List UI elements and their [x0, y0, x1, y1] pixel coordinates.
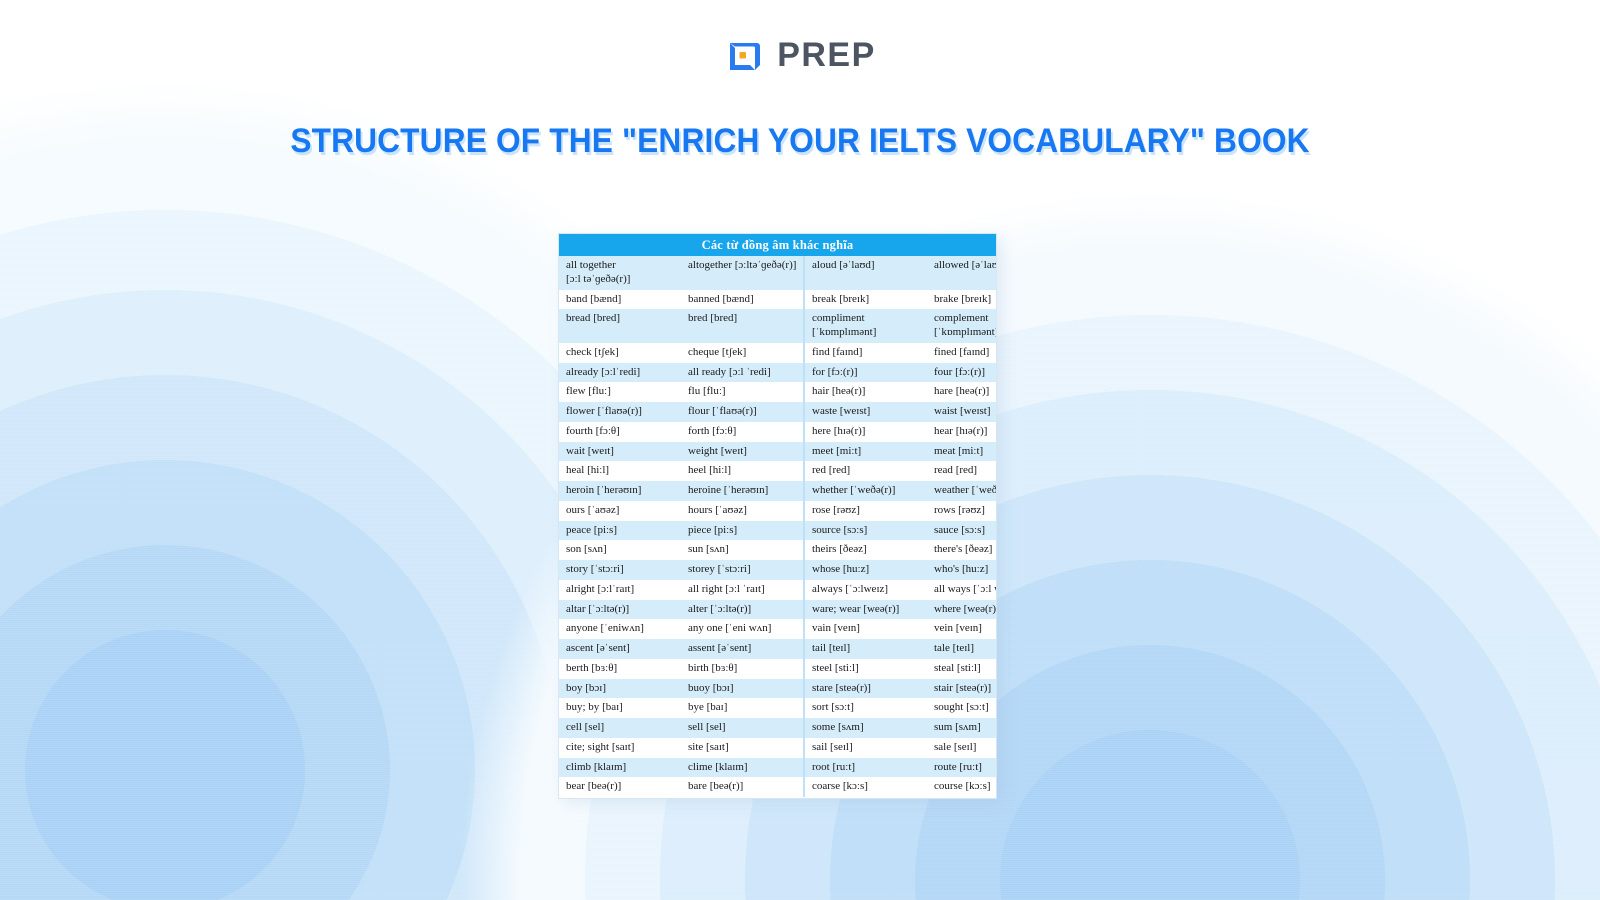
- table-cell: all together [ɔːl təˈɡeðə(r)]: [559, 256, 681, 290]
- prep-logo-icon: [724, 34, 766, 76]
- table-row: son [sʌn]sun [sʌn]theirs [ðeəz]there's […: [559, 540, 996, 560]
- table-cell: sum [sʌm]: [927, 718, 996, 738]
- table-cell: altogether [ɔːltəˈɡeðə(r)]: [681, 256, 804, 290]
- table-row: already [ɔːlˈredi]all ready [ɔːl ˈredi]f…: [559, 363, 996, 383]
- table-cell: meat [miːt]: [927, 442, 996, 462]
- table-cell: wait [weɪt]: [559, 442, 681, 462]
- table-cell: alter [ˈɔːltə(r)]: [681, 600, 804, 620]
- table-cell: route [ruːt]: [927, 758, 996, 778]
- table-cell: course [kɔːs]: [927, 777, 996, 797]
- table-cell: bred [bred]: [681, 309, 804, 343]
- table-cell: stare [steə(r)]: [804, 679, 927, 699]
- table-cell: buoy [bɔɪ]: [681, 679, 804, 699]
- table-cell: allowed [əˈlaʊd]: [927, 256, 996, 290]
- table-cell: alright [ɔːlˈraɪt]: [559, 580, 681, 600]
- table-cell: hear [hɪə(r)]: [927, 422, 996, 442]
- table-cell: sought [sɔːt]: [927, 698, 996, 718]
- table-cell: theirs [ðeəz]: [804, 540, 927, 560]
- table-cell: heroin [ˈherəʊɪn]: [559, 481, 681, 501]
- table-cell: root [ruːt]: [804, 758, 927, 778]
- table-cell: steel [stiːl]: [804, 659, 927, 679]
- table-cell: all ready [ɔːl ˈredi]: [681, 363, 804, 383]
- table-row: anyone [ˈeniwʌn]any one [ˈeni wʌn]vain […: [559, 619, 996, 639]
- table-cell: compliment [ˈkɒmplɪmənt]: [804, 309, 927, 343]
- table-row: check [tʃek]cheque [tʃek]find [faɪnd]fin…: [559, 343, 996, 363]
- table-cell: forth [fɔːθ]: [681, 422, 804, 442]
- table-cell: bare [beə(r)]: [681, 777, 804, 797]
- table-cell: altar [ˈɔːltə(r)]: [559, 600, 681, 620]
- table-cell: whether [ˈweðə(r)]: [804, 481, 927, 501]
- table-cell: flower [ˈflaʊə(r)]: [559, 402, 681, 422]
- table-row: ours [ˈaʊəz]hours [ˈaʊəz]rose [rəʊz]rows…: [559, 501, 996, 521]
- table-row: climb [klaɪm]clime [klaɪm]root [ruːt]rou…: [559, 758, 996, 778]
- table-cell: sort [sɔːt]: [804, 698, 927, 718]
- table-cell: who's [huːz]: [927, 560, 996, 580]
- table-row: fourth [fɔːθ]forth [fɔːθ]here [hɪə(r)]he…: [559, 422, 996, 442]
- table-cell: sauce [sɔːs]: [927, 521, 996, 541]
- table-cell: here [hɪə(r)]: [804, 422, 927, 442]
- table-cell: coarse [kɔːs]: [804, 777, 927, 797]
- table-row: alright [ɔːlˈraɪt]all right [ɔːl ˈraɪt]a…: [559, 580, 996, 600]
- page-title: STRUCTURE OF THE "ENRICH YOUR IELTS VOCA…: [56, 122, 1544, 161]
- table-row: heal [hiːl]heel [hiːl]red [red]read [red…: [559, 461, 996, 481]
- table-cell: break [breɪk]: [804, 290, 927, 310]
- table-cell: fourth [fɔːθ]: [559, 422, 681, 442]
- table-cell: sale [seɪl]: [927, 738, 996, 758]
- table-row: bear [beə(r)]bare [beə(r)]coarse [kɔːs]c…: [559, 777, 996, 797]
- table-cell: already [ɔːlˈredi]: [559, 363, 681, 383]
- table-row: bread [bred]bred [bred]compliment [ˈkɒmp…: [559, 309, 996, 343]
- table-cell: tale [teɪl]: [927, 639, 996, 659]
- table-cell: read [red]: [927, 461, 996, 481]
- table-cell: aloud [əˈlaʊd]: [804, 256, 927, 290]
- table-cell: rose [rəʊz]: [804, 501, 927, 521]
- table-cell: waste [weɪst]: [804, 402, 927, 422]
- table-cell: hare [heə(r)]: [927, 382, 996, 402]
- table-cell: check [tʃek]: [559, 343, 681, 363]
- table-cell: storey [ˈstɔːri]: [681, 560, 804, 580]
- table-cell: anyone [ˈeniwʌn]: [559, 619, 681, 639]
- table-cell: flew [fluː]: [559, 382, 681, 402]
- table-cell: sail [seɪl]: [804, 738, 927, 758]
- table-row: peace [piːs]piece [piːs]source [sɔːs]sau…: [559, 521, 996, 541]
- table-cell: brake [breɪk]: [927, 290, 996, 310]
- table-cell: assent [əˈsent]: [681, 639, 804, 659]
- table-cell: red [red]: [804, 461, 927, 481]
- table-cell: cell [sel]: [559, 718, 681, 738]
- table-cell: whose [huːz]: [804, 560, 927, 580]
- table-cell: for [fɔː(r)]: [804, 363, 927, 383]
- table-row: wait [weɪt]weight [weɪt]meet [miːt]meat …: [559, 442, 996, 462]
- table-cell: find [faɪnd]: [804, 343, 927, 363]
- table-row: story [ˈstɔːri]storey [ˈstɔːri]whose [hu…: [559, 560, 996, 580]
- table-cell: always [ˈɔːlweɪz]: [804, 580, 927, 600]
- table-cell: piece [piːs]: [681, 521, 804, 541]
- table-cell: banned [bænd]: [681, 290, 804, 310]
- table-cell: stair [steə(r)]: [927, 679, 996, 699]
- table-cell: berth [bɜːθ]: [559, 659, 681, 679]
- table-cell: flour [ˈflaʊə(r)]: [681, 402, 804, 422]
- table-row: ascent [əˈsent]assent [əˈsent]tail [teɪl…: [559, 639, 996, 659]
- table-cell: weather [ˈweðə(r)]: [927, 481, 996, 501]
- table-cell: there's [ðeəz]: [927, 540, 996, 560]
- vocabulary-table-figure: Các từ đồng âm khác nghĩa all together […: [559, 234, 996, 798]
- table-cell: fined [faɪnd]: [927, 343, 996, 363]
- table-cell: steal [stiːl]: [927, 659, 996, 679]
- table-row: flew [fluː]flu [fluː]hair [heə(r)]hare […: [559, 382, 996, 402]
- table-cell: buy; by [baɪ]: [559, 698, 681, 718]
- table-cell: meet [miːt]: [804, 442, 927, 462]
- table-cell: all ways [ˈɔːl weɪz]: [927, 580, 996, 600]
- table-cell: climb [klaɪm]: [559, 758, 681, 778]
- table-cell: site [saɪt]: [681, 738, 804, 758]
- table-row: berth [bɜːθ]birth [bɜːθ]steel [stiːl]ste…: [559, 659, 996, 679]
- table-cell: cheque [tʃek]: [681, 343, 804, 363]
- table-cell: vein [veɪn]: [927, 619, 996, 639]
- table-cell: boy [bɔɪ]: [559, 679, 681, 699]
- table-row: buy; by [baɪ]bye [baɪ]sort [sɔːt]sought …: [559, 698, 996, 718]
- table-cell: birth [bɜːθ]: [681, 659, 804, 679]
- table-cell: sell [sel]: [681, 718, 804, 738]
- table-cell: waist [weɪst]: [927, 402, 996, 422]
- table-row: boy [bɔɪ]buoy [bɔɪ]stare [steə(r)]stair …: [559, 679, 996, 699]
- table-cell: cite; sight [saɪt]: [559, 738, 681, 758]
- table-cell: sun [sʌn]: [681, 540, 804, 560]
- table-caption: Các từ đồng âm khác nghĩa: [559, 234, 996, 256]
- brand-header: PREP: [0, 34, 1600, 76]
- table-cell: ware; wear [weə(r)]: [804, 600, 927, 620]
- table-cell: son [sʌn]: [559, 540, 681, 560]
- table-cell: heroine [ˈherəʊɪn]: [681, 481, 804, 501]
- table-cell: bye [baɪ]: [681, 698, 804, 718]
- table-cell: source [sɔːs]: [804, 521, 927, 541]
- table-cell: some [sʌm]: [804, 718, 927, 738]
- page-root: PREP STRUCTURE OF THE "ENRICH YOUR IELTS…: [0, 0, 1600, 900]
- table-cell: band [bænd]: [559, 290, 681, 310]
- table-cell: heel [hiːl]: [681, 461, 804, 481]
- table-cell: all right [ɔːl ˈraɪt]: [681, 580, 804, 600]
- table-cell: hours [ˈaʊəz]: [681, 501, 804, 521]
- table-cell: peace [piːs]: [559, 521, 681, 541]
- table-row: flower [ˈflaʊə(r)]flour [ˈflaʊə(r)]waste…: [559, 402, 996, 422]
- table-row: heroin [ˈherəʊɪn]heroine [ˈherəʊɪn]wheth…: [559, 481, 996, 501]
- table-cell: bread [bred]: [559, 309, 681, 343]
- table-cell: four [fɔː(r)]: [927, 363, 996, 383]
- table-row: all together [ɔːl təˈɡeðə(r)]altogether …: [559, 256, 996, 290]
- table-cell: ours [ˈaʊəz]: [559, 501, 681, 521]
- table-cell: ascent [əˈsent]: [559, 639, 681, 659]
- table-cell: heal [hiːl]: [559, 461, 681, 481]
- table-cell: clime [klaɪm]: [681, 758, 804, 778]
- table-cell: bear [beə(r)]: [559, 777, 681, 797]
- table-cell: any one [ˈeni wʌn]: [681, 619, 804, 639]
- table-row: cell [sel]sell [sel]some [sʌm]sum [sʌm]: [559, 718, 996, 738]
- table-cell: weight [weɪt]: [681, 442, 804, 462]
- table-cell: complement [ˈkɒmplɪmənt]: [927, 309, 996, 343]
- table-cell: vain [veɪn]: [804, 619, 927, 639]
- brand-name: PREP: [777, 38, 876, 72]
- homophones-table: all together [ɔːl təˈɡeðə(r)]altogether …: [559, 256, 996, 797]
- table-cell: rows [rəʊz]: [927, 501, 996, 521]
- table-cell: where [weə(r)]: [927, 600, 996, 620]
- table-row: cite; sight [saɪt]site [saɪt]sail [seɪl]…: [559, 738, 996, 758]
- table-cell: story [ˈstɔːri]: [559, 560, 681, 580]
- table-body: all together [ɔːl təˈɡeðə(r)]altogether …: [559, 256, 996, 797]
- table-cell: flu [fluː]: [681, 382, 804, 402]
- table-row: band [bænd]banned [bænd]break [breɪk]bra…: [559, 290, 996, 310]
- table-cell: hair [heə(r)]: [804, 382, 927, 402]
- table-cell: tail [teɪl]: [804, 639, 927, 659]
- table-row: altar [ˈɔːltə(r)]alter [ˈɔːltə(r)]ware; …: [559, 600, 996, 620]
